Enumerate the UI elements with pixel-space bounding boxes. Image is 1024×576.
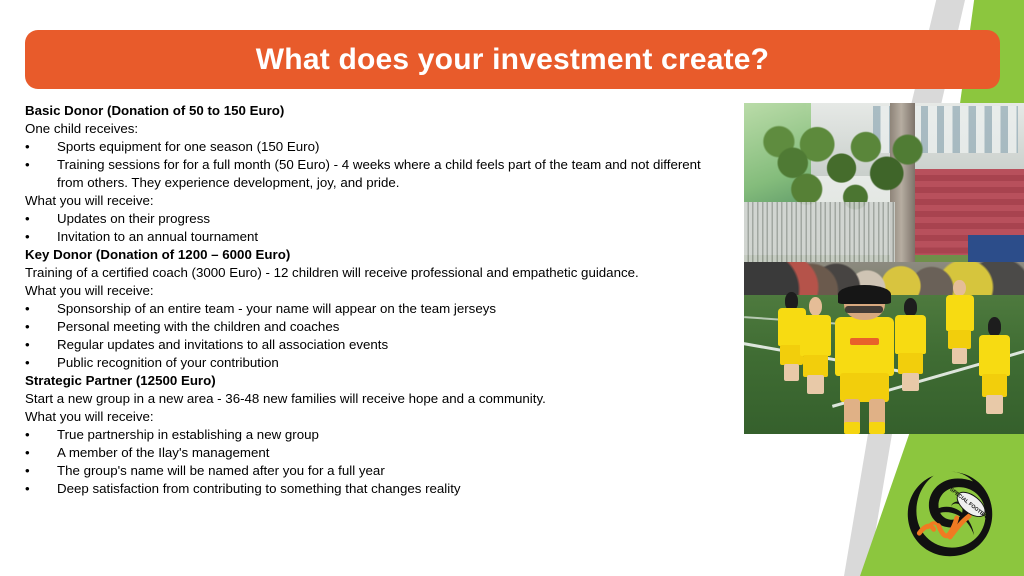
list-item-label: The group's name will be named after you… — [57, 462, 725, 480]
photo-player — [800, 315, 831, 394]
photo-player — [946, 295, 974, 365]
list-item-label: Public recognition of your contribution — [57, 354, 725, 372]
list-item: • Deep satisfaction from contributing to… — [25, 480, 725, 498]
list-item: • Updates on their progress — [25, 210, 725, 228]
section-heading: Strategic Partner (12500 Euro) — [25, 372, 725, 390]
section-lead: Training of a certified coach (3000 Euro… — [25, 264, 725, 282]
list-item: • Sports equipment for one season (150 E… — [25, 138, 725, 156]
list-item-label: Personal meeting with the children and c… — [57, 318, 725, 336]
bullet-icon: • — [25, 426, 57, 444]
list-item-label: Training sessions for for a full month (… — [57, 156, 725, 192]
bullet-icon: • — [25, 462, 57, 480]
section-key-donor: Key Donor (Donation of 1200 – 6000 Euro)… — [25, 246, 725, 372]
title-banner: What does your investment create? — [25, 30, 1000, 89]
photo-player — [979, 335, 1010, 414]
receive-label: What you will receive: — [25, 282, 725, 300]
association-logo: SPECIAL FOOTBALL — [902, 466, 998, 562]
receive-label: What you will receive: — [25, 192, 725, 210]
section-heading: Basic Donor (Donation of 50 to 150 Euro) — [25, 102, 725, 120]
content-body: Basic Donor (Donation of 50 to 150 Euro)… — [25, 102, 725, 498]
list-item: • A member of the Ilay's management — [25, 444, 725, 462]
bullet-icon: • — [25, 228, 57, 246]
list-item: • The group's name will be named after y… — [25, 462, 725, 480]
list-item: • Regular updates and invitations to all… — [25, 336, 725, 354]
section-heading: Key Donor (Donation of 1200 – 6000 Euro) — [25, 246, 725, 264]
bullet-icon: • — [25, 318, 57, 336]
section-lead: Start a new group in a new area - 36-48 … — [25, 390, 725, 408]
photo-children-football — [744, 103, 1024, 434]
list-item-label: True partnership in establishing a new g… — [57, 426, 725, 444]
bullet-icon: • — [25, 444, 57, 462]
list-item-label: Deep satisfaction from contributing to s… — [57, 480, 725, 498]
photo-player-foreground — [828, 288, 901, 434]
list-item-label: Updates on their progress — [57, 210, 725, 228]
bullet-icon: • — [25, 354, 57, 372]
list-item: • Personal meeting with the children and… — [25, 318, 725, 336]
bullet-icon: • — [25, 138, 57, 156]
list-item: • Sponsorship of an entire team - your n… — [25, 300, 725, 318]
list-item: • Invitation to an annual tournament — [25, 228, 725, 246]
receive-label: What you will receive: — [25, 408, 725, 426]
section-basic-donor: Basic Donor (Donation of 50 to 150 Euro)… — [25, 102, 725, 246]
bullet-icon: • — [25, 300, 57, 318]
bullet-icon: • — [25, 480, 57, 498]
list-item-label: Invitation to an annual tournament — [57, 228, 725, 246]
page-title: What does your investment create? — [256, 45, 769, 75]
section-strategic-partner: Strategic Partner (12500 Euro) Start a n… — [25, 372, 725, 498]
list-item-label: Sports equipment for one season (150 Eur… — [57, 138, 725, 156]
section-lead: One child receives: — [25, 120, 725, 138]
list-item-label: Regular updates and invitations to all a… — [57, 336, 725, 354]
bullet-icon: • — [25, 156, 57, 174]
list-item-label: Sponsorship of an entire team - your nam… — [57, 300, 725, 318]
list-item: • Public recognition of your contributio… — [25, 354, 725, 372]
list-item-label: A member of the Ilay's management — [57, 444, 725, 462]
slide-root: What does your investment create? Basic … — [0, 0, 1024, 576]
list-item: • True partnership in establishing a new… — [25, 426, 725, 444]
bullet-icon: • — [25, 336, 57, 354]
list-item: • Training sessions for for a full month… — [25, 156, 725, 192]
bullet-icon: • — [25, 210, 57, 228]
